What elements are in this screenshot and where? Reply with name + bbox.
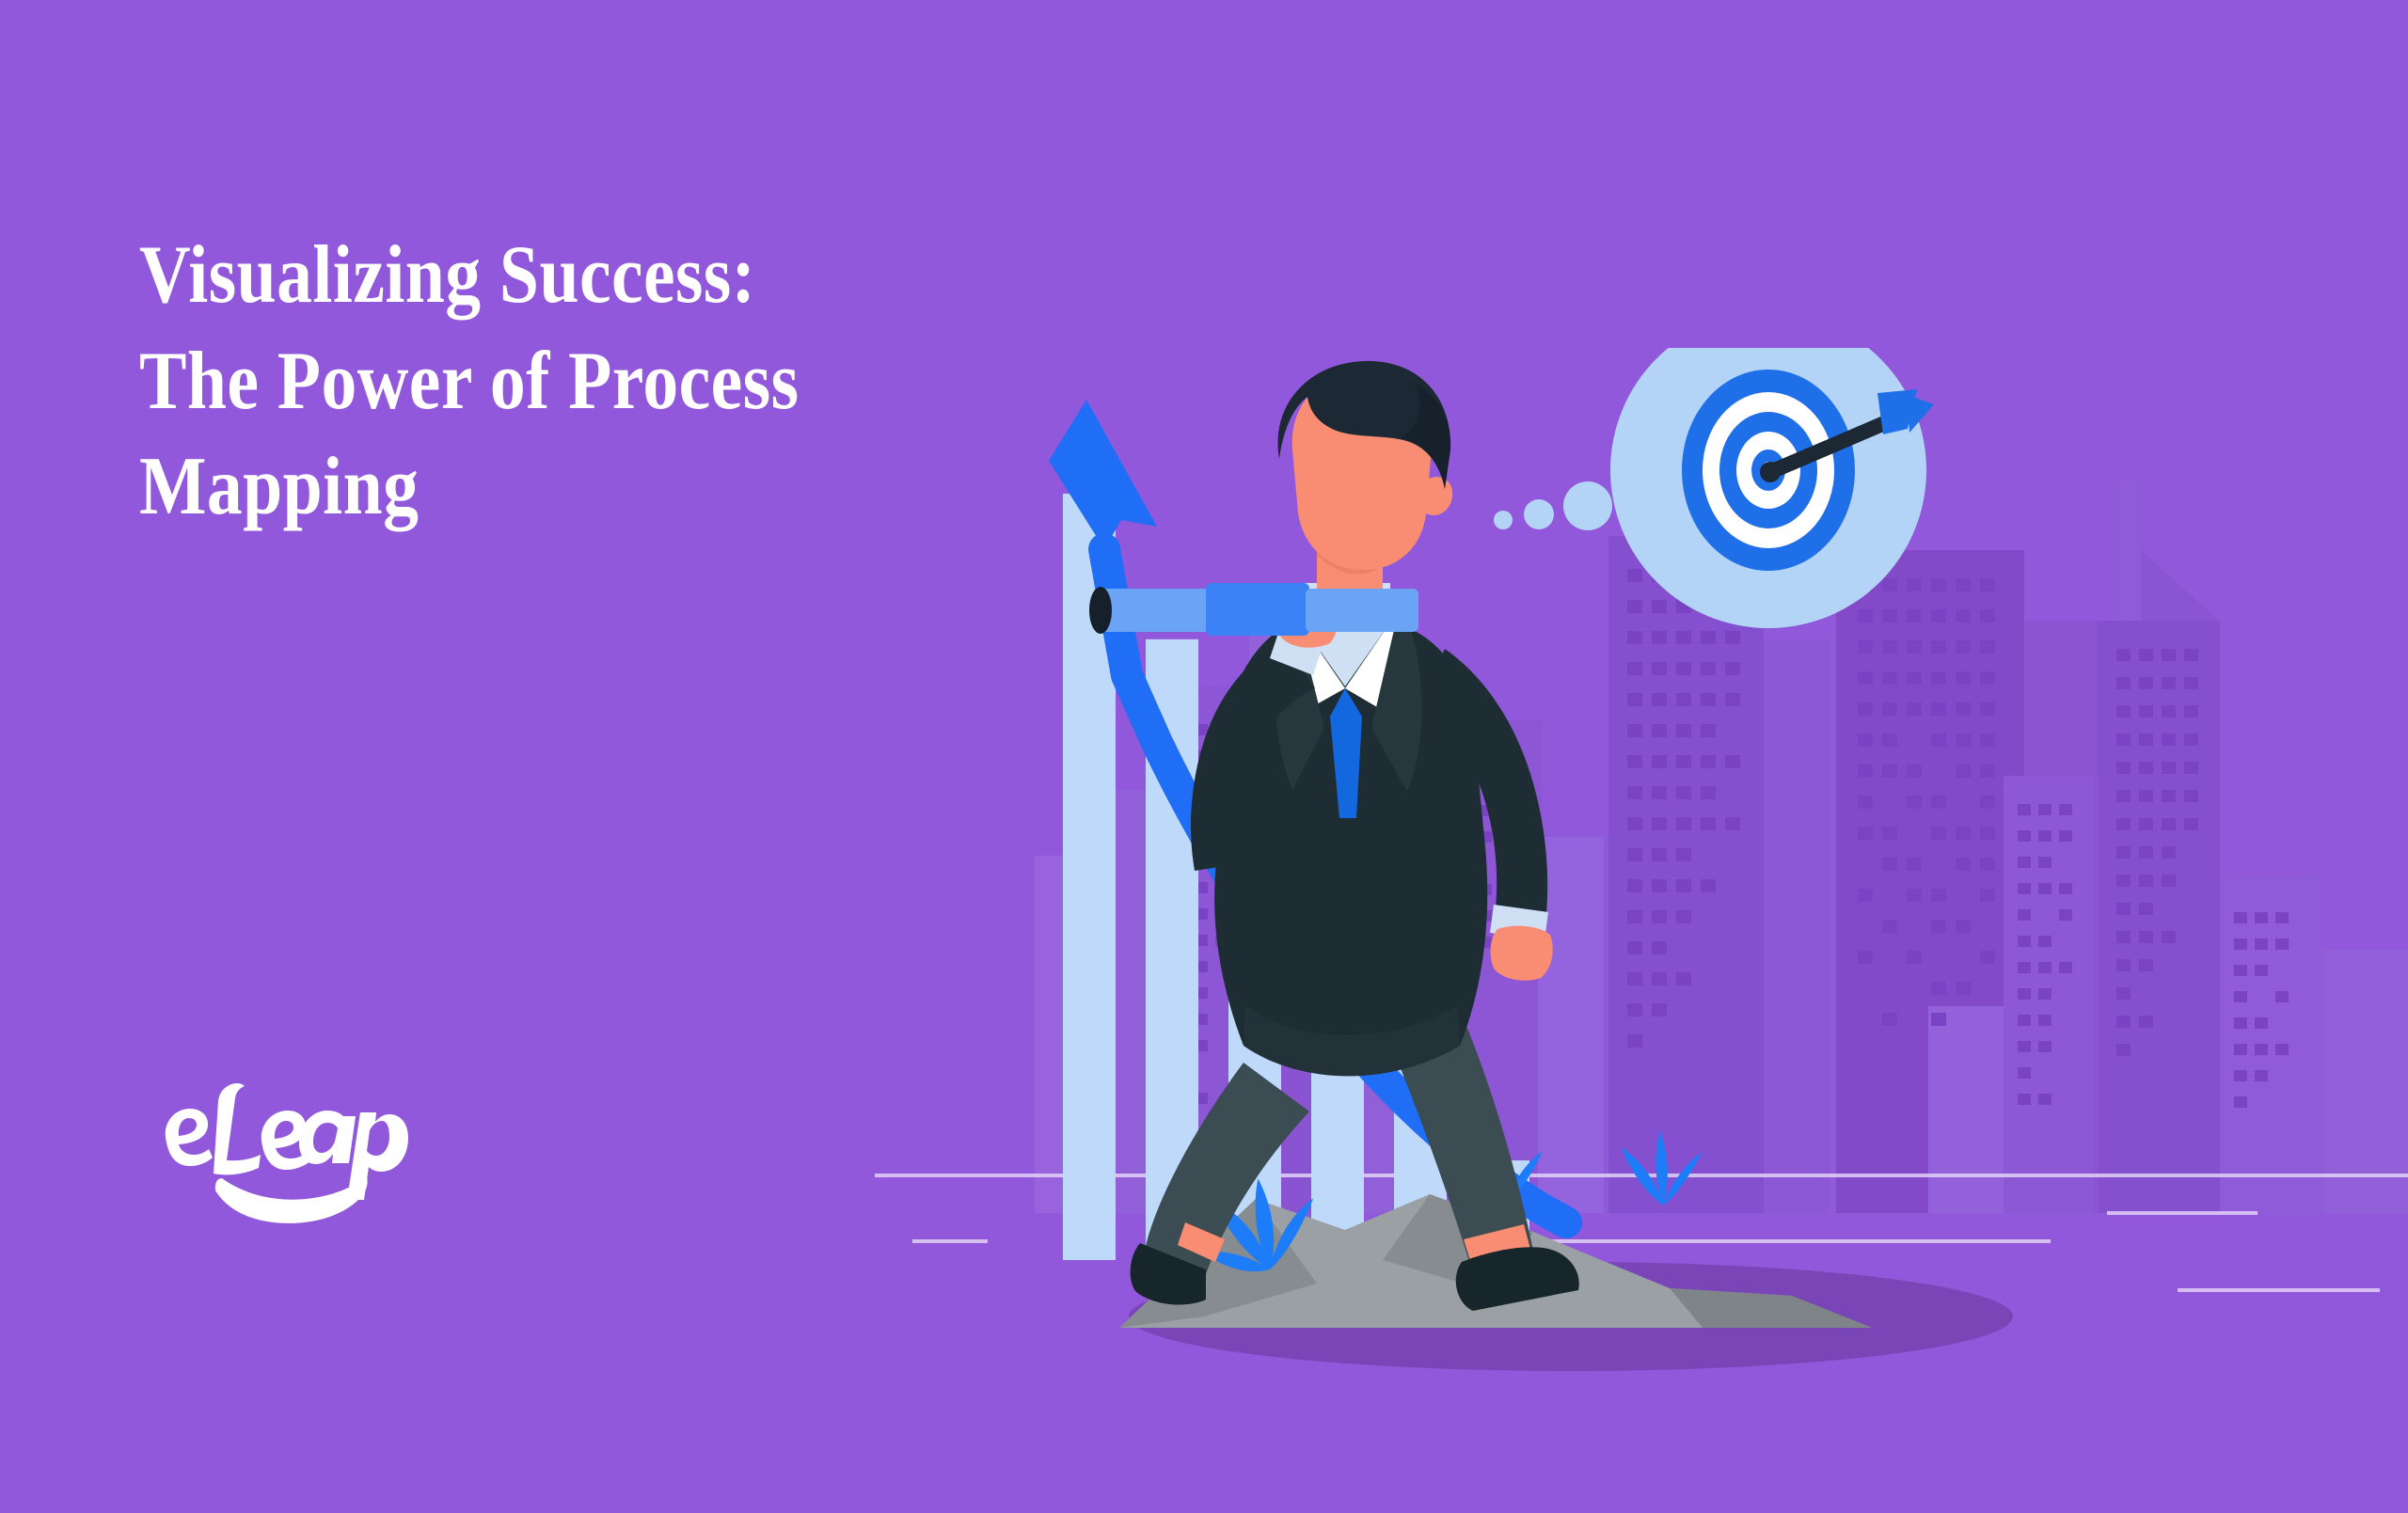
briefcase-hand [1491, 926, 1553, 981]
logo-swoosh [215, 1176, 368, 1223]
eleap-logo[interactable] [150, 1067, 433, 1227]
logo-wordmark-glyphs [166, 1083, 408, 1200]
hero-illustration [875, 348, 2408, 1411]
banner: Visualizing Success: The Power of Proces… [0, 0, 2408, 1513]
telescope-lens [1089, 587, 1112, 634]
telescope [1089, 583, 1418, 636]
ear [1426, 477, 1452, 515]
page-title: Visualizing Success: The Power of Proces… [139, 223, 948, 541]
